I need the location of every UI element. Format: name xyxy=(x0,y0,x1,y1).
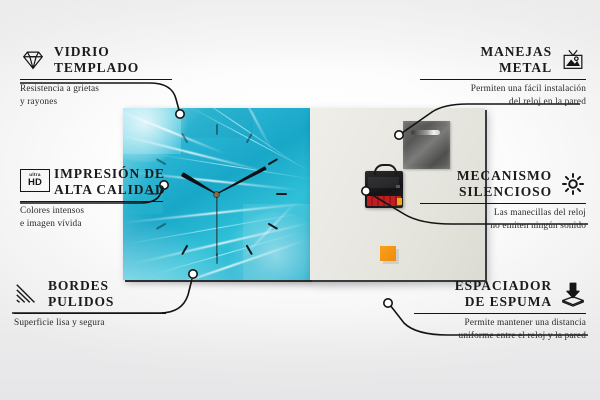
feature-subtitle: Superficie lisa y segura xyxy=(14,317,184,330)
feature-header: MECANISMO SILENCIOSO xyxy=(420,168,586,200)
connector-dot-espaciador xyxy=(384,299,392,307)
polished-edge-icon xyxy=(14,281,40,307)
feature-impresion-alta-calidad: ultra HD IMPRESIÓN DE ALTA CALIDAD Color… xyxy=(20,166,190,230)
diamond-icon xyxy=(20,47,46,73)
feature-rule xyxy=(14,313,166,315)
feature-title: MECANISMO SILENCIOSO xyxy=(457,168,552,200)
ultra-hd-icon: ultra HD xyxy=(20,169,46,195)
feature-subtitle: Permite mantener una distancia uniforme … xyxy=(414,317,586,342)
feature-header: ultra HD IMPRESIÓN DE ALTA CALIDAD xyxy=(20,166,190,198)
feature-rule xyxy=(20,201,163,203)
feature-manejas-metal: MANEJAS METAL Permiten una fácil instala… xyxy=(420,44,586,108)
picture-hanger-icon xyxy=(560,47,586,73)
feature-rule xyxy=(420,203,586,205)
feature-subtitle: Resistencia a grietas y rayones xyxy=(20,83,180,108)
feature-rule xyxy=(20,79,172,81)
feature-vidrio-templado: VIDRIO TEMPLADO Resistencia a grietas y … xyxy=(20,44,180,108)
connector-dot-bordes xyxy=(189,270,197,278)
feature-header: BORDES PULIDOS xyxy=(14,278,184,310)
feature-header: ESPACIADOR DE ESPUMA xyxy=(414,278,586,310)
feature-rule xyxy=(414,313,586,315)
gear-icon xyxy=(560,171,586,197)
hd-main-label: HD xyxy=(28,178,42,188)
feature-header: VIDRIO TEMPLADO xyxy=(20,44,180,76)
feature-rule xyxy=(420,79,586,81)
feature-bordes-pulidos: BORDES PULIDOS Superficie lisa y segura xyxy=(14,278,184,330)
feature-subtitle: Las manecillas del reloj no emiten ningú… xyxy=(420,207,586,232)
feature-title: BORDES PULIDOS xyxy=(48,278,114,310)
infographic-canvas: VIDRIO TEMPLADO Resistencia a grietas y … xyxy=(0,0,600,400)
feature-mecanismo-silencioso: MECANISMO SILENCIOSO Las manecillas del … xyxy=(420,168,586,232)
feature-title: IMPRESIÓN DE ALTA CALIDAD xyxy=(54,166,166,198)
feature-header: MANEJAS METAL xyxy=(420,44,586,76)
connector-dot-mecanismo xyxy=(362,187,370,195)
feature-title: ESPACIADOR DE ESPUMA xyxy=(455,278,552,310)
feature-espaciador-espuma: ESPACIADOR DE ESPUMA Permite mantener un… xyxy=(414,278,586,342)
connector-dot-vidrio-templado xyxy=(176,110,184,118)
foam-spacer-icon xyxy=(560,281,586,307)
connector-dot-manejas xyxy=(395,131,403,139)
feature-subtitle: Colores intensos e imagen vívida xyxy=(20,205,190,230)
feature-subtitle: Permiten una fácil instalación del reloj… xyxy=(420,83,586,108)
feature-title: MANEJAS METAL xyxy=(480,44,552,76)
feature-title: VIDRIO TEMPLADO xyxy=(54,44,139,76)
